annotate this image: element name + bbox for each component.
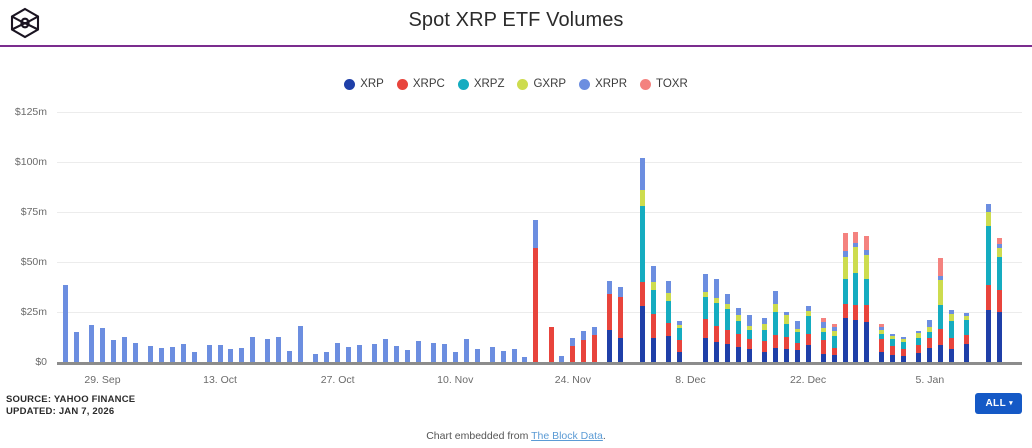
bar-segment-xrpz (949, 321, 954, 338)
the-block-data-link[interactable]: The Block Data (531, 430, 603, 442)
bar-segment-xrp (949, 349, 954, 362)
bar-segment-xrpc (964, 335, 969, 344)
bar-segment-xrpr (346, 347, 351, 362)
bar-segment-xrpr (74, 332, 79, 362)
bar-segment-xrpc (666, 323, 671, 336)
bar-segment-xrpr (250, 337, 255, 362)
range-selector-all-button[interactable]: ALL ▾ (975, 393, 1022, 414)
source-line: SOURCE: YAHOO FINANCE (6, 394, 135, 406)
bar-column[interactable] (964, 313, 969, 362)
legend-label: XRPC (413, 78, 445, 90)
x-axis: 29. Sep13. Oct27. Oct10. Nov24. Nov8. De… (57, 368, 1022, 392)
bar-segment-xrpr (394, 346, 399, 362)
bar-segment-xrpc (784, 337, 789, 349)
bar-column[interactable] (607, 281, 612, 362)
bar-segment-xrp (864, 322, 869, 362)
bar-segment-xrpz (864, 279, 869, 305)
bar-segment-xrp (938, 345, 943, 362)
bar-column[interactable] (549, 327, 554, 362)
bar-segment-xrpr (640, 158, 645, 190)
bar-segment-xrpc (651, 314, 656, 338)
y-axis-tick-label: $0 (35, 356, 47, 368)
bar-segment-xrpz (821, 332, 826, 340)
bar-column[interactable] (265, 339, 270, 362)
bar-segment-xrpz (832, 336, 837, 348)
bar-column[interactable] (170, 347, 175, 362)
bar-segment-xrp (640, 306, 645, 362)
bar-segment-xrpz (773, 312, 778, 335)
range-selector-label: ALL (985, 398, 1006, 409)
updated-line: UPDATED: JAN 7, 2026 (6, 406, 135, 418)
bar-segment-gxrp (666, 293, 671, 301)
bar-segment-xrpr (313, 354, 318, 362)
bar-column[interactable] (287, 351, 292, 362)
bar-segment-xrpr (265, 339, 270, 362)
bar-column[interactable] (228, 349, 233, 362)
legend-swatch-gxrp-icon (517, 79, 528, 90)
bar-segment-xrpc (736, 334, 741, 347)
bar-segment-xrpr (453, 352, 458, 362)
bar-column[interactable] (714, 279, 719, 362)
bar-column[interactable] (431, 343, 436, 362)
bar-segment-xrpz (725, 309, 730, 330)
bar-segment-xrpc (916, 345, 921, 353)
bar-segment-xrpr (276, 337, 281, 362)
bar-segment-xrpr (357, 345, 362, 362)
bar-segment-xrpz (843, 279, 848, 304)
bar-segment-xrpc (592, 335, 597, 362)
bar-segment-xrpc (773, 335, 778, 348)
bar-segment-xrpr (218, 345, 223, 362)
bar-segment-xrp (832, 355, 837, 362)
bar-segment-xrp (762, 352, 767, 362)
bar-column[interactable] (394, 346, 399, 362)
legend-label: XRPR (595, 78, 627, 90)
source-info: SOURCE: YAHOO FINANCE UPDATED: JAN 7, 20… (6, 394, 135, 418)
bar-segment-xrpr (475, 349, 480, 362)
bar-column[interactable] (949, 310, 954, 362)
bar-segment-xrpc (714, 326, 719, 342)
bar-segment-xrpc (949, 338, 954, 349)
chevron-down-icon: ▾ (1009, 400, 1013, 407)
bar-segment-xrp (607, 330, 612, 362)
bar-column[interactable] (533, 220, 538, 362)
legend-item-gxrp[interactable]: GXRP (517, 78, 566, 90)
bar-segment-xrpz (901, 342, 906, 349)
bar-column[interactable] (821, 318, 826, 362)
bar-segment-xrpr (111, 340, 116, 362)
bars-layer (57, 100, 1022, 392)
bar-segment-xrpc (533, 248, 538, 362)
bar-column[interactable] (677, 321, 682, 362)
bar-column[interactable] (879, 324, 884, 362)
legend-swatch-xrpc-icon (397, 79, 408, 90)
y-axis-tick-label: $25m (21, 306, 47, 318)
bar-segment-xrpr (986, 204, 991, 212)
y-axis-tick-label: $100m (15, 156, 47, 168)
bar-segment-gxrp (986, 212, 991, 226)
bar-segment-xrpr (148, 346, 153, 362)
bar-segment-xrp (997, 312, 1002, 362)
bar-segment-xrpr (592, 327, 597, 335)
bar-column[interactable] (784, 312, 789, 362)
bar-column[interactable] (313, 354, 318, 362)
legend-item-xrpc[interactable]: XRPC (397, 78, 445, 90)
bar-segment-gxrp (864, 255, 869, 279)
bar-segment-xrpc (806, 334, 811, 345)
legend-label: GXRP (533, 78, 566, 90)
bar-column[interactable] (832, 324, 837, 362)
bar-column[interactable] (747, 315, 752, 362)
bar-segment-xrp (666, 336, 671, 362)
bar-segment-xrpr (442, 344, 447, 362)
bar-column[interactable] (181, 344, 186, 362)
bar-column[interactable] (133, 343, 138, 362)
bar-segment-xrpr (725, 294, 730, 304)
bar-segment-xrpr (773, 291, 778, 304)
bar-segment-xrpc (795, 343, 800, 350)
bar-segment-xrpr (170, 347, 175, 362)
legend-swatch-xrp-icon (344, 79, 355, 90)
bar-column[interactable] (416, 341, 421, 362)
chart-footer: SOURCE: YAHOO FINANCE UPDATED: JAN 7, 20… (0, 392, 1032, 448)
x-axis-tick-label: 8. Dec (675, 374, 705, 386)
bar-column[interactable] (736, 308, 741, 362)
bar-segment-xrpz (714, 303, 719, 326)
bar-column[interactable] (795, 321, 800, 362)
bar-segment-xrpr (298, 326, 303, 362)
bar-segment-xrpz (916, 338, 921, 345)
bar-segment-xrp (927, 348, 932, 362)
bar-column[interactable] (239, 348, 244, 362)
bar-segment-xrpr (607, 281, 612, 294)
bar-segment-xrp (795, 350, 800, 362)
y-axis-tick-label: $75m (21, 206, 47, 218)
bar-segment-xrpr (533, 220, 538, 248)
bar-segment-xrpr (736, 308, 741, 315)
bar-column[interactable] (773, 291, 778, 362)
bar-column[interactable] (853, 232, 858, 362)
y-axis: $0$25m$50m$75m$100m$125m (0, 100, 55, 392)
bar-column[interactable] (618, 287, 623, 362)
bar-column[interactable] (89, 325, 94, 362)
bar-column[interactable] (490, 347, 495, 362)
bar-column[interactable] (357, 345, 362, 362)
embed-credit: Chart embedded from The Block Data. (0, 430, 1032, 442)
bar-segment-xrpr (228, 349, 233, 362)
bar-segment-gxrp (651, 282, 656, 290)
legend-item-xrpz[interactable]: XRPZ (458, 78, 505, 90)
x-axis-tick-label: 13. Oct (203, 374, 237, 386)
bar-segment-xrpr (927, 320, 932, 327)
legend-swatch-xrpz-icon (458, 79, 469, 90)
bar-segment-xrpz (640, 206, 645, 282)
bar-segment-xrpr (747, 315, 752, 326)
bar-column[interactable] (250, 337, 255, 362)
bar-segment-xrpz (806, 316, 811, 334)
bar-segment-xrpc (725, 330, 730, 344)
bar-segment-gxrp (997, 248, 1002, 257)
bar-segment-xrpr (714, 279, 719, 298)
x-axis-tick-label: 24. Nov (555, 374, 591, 386)
bar-segment-xrpz (964, 320, 969, 335)
bar-column[interactable] (890, 334, 895, 362)
bar-segment-xrpr (159, 348, 164, 362)
legend-item-xrpr[interactable]: XRPR (579, 78, 627, 90)
bar-segment-xrpc (879, 339, 884, 352)
legend-label: XRP (360, 78, 384, 90)
grid-area (57, 100, 1022, 392)
bar-column[interactable] (581, 331, 586, 362)
bar-segment-xrp (784, 349, 789, 362)
bar-column[interactable] (640, 158, 645, 362)
bar-column[interactable] (762, 318, 767, 362)
bar-segment-toxr (843, 233, 848, 251)
bar-segment-xrpr (239, 348, 244, 362)
x-axis-tick-label: 5. Jan (916, 374, 945, 386)
bar-column[interactable] (501, 351, 506, 362)
bar-segment-xrpr (383, 339, 388, 362)
x-axis-tick-label: 22. Dec (790, 374, 826, 386)
bar-segment-xrpr (581, 331, 586, 340)
chart-header: Spot XRP ETF Volumes (0, 0, 1032, 47)
bar-segment-xrpr (431, 343, 436, 362)
bar-segment-xrpr (335, 343, 340, 362)
legend-item-xrp[interactable]: XRP (344, 78, 384, 90)
bar-segment-xrpc (640, 282, 645, 306)
legend-label: XRPZ (474, 78, 505, 90)
x-axis-tick-label: 29. Sep (84, 374, 120, 386)
bar-column[interactable] (725, 294, 730, 362)
bar-segment-xrp (618, 338, 623, 362)
bar-segment-xrp (916, 353, 921, 362)
bar-segment-xrpr (372, 344, 377, 362)
bar-column[interactable] (666, 281, 671, 362)
bar-segment-xrpr (181, 344, 186, 362)
bar-segment-xrp (821, 354, 826, 362)
bar-segment-gxrp (938, 280, 943, 305)
bar-column[interactable] (651, 266, 656, 362)
bar-column[interactable] (843, 233, 848, 362)
bar-segment-xrp (879, 352, 884, 362)
bar-column[interactable] (74, 332, 79, 362)
bar-segment-xrpc (843, 304, 848, 318)
legend-item-toxr[interactable]: TOXR (640, 78, 688, 90)
bar-segment-xrpr (192, 352, 197, 362)
bar-segment-xrpr (490, 347, 495, 362)
embed-prefix: Chart embedded from (426, 430, 531, 442)
bar-segment-xrpr (464, 339, 469, 362)
bar-column[interactable] (324, 352, 329, 362)
bar-column[interactable] (111, 340, 116, 362)
bar-segment-xrp (714, 342, 719, 362)
bar-column[interactable] (405, 350, 410, 362)
bar-column[interactable] (218, 345, 223, 362)
bar-column[interactable] (512, 349, 517, 362)
bar-segment-xrpr (207, 345, 212, 362)
bar-segment-xrpz (938, 305, 943, 329)
bar-segment-xrpr (618, 287, 623, 297)
legend-swatch-toxr-icon (640, 79, 651, 90)
bar-segment-xrpc (549, 327, 554, 362)
bar-segment-xrpc (890, 346, 895, 355)
bar-segment-xrpc (607, 294, 612, 330)
bar-column[interactable] (122, 337, 127, 362)
bar-segment-xrpr (324, 352, 329, 362)
bar-segment-xrpr (512, 349, 517, 362)
bar-segment-xrpz (795, 332, 800, 343)
bar-segment-gxrp (773, 304, 778, 312)
bar-column[interactable] (159, 348, 164, 362)
bar-segment-xrp (725, 344, 730, 362)
x-axis-tick-label: 27. Oct (321, 374, 355, 386)
bar-segment-xrpr (122, 337, 127, 362)
bar-column[interactable] (63, 285, 68, 362)
bar-segment-xrpr (287, 351, 292, 362)
bar-column[interactable] (335, 343, 340, 362)
bar-segment-xrp (747, 349, 752, 362)
bar-segment-xrpr (89, 325, 94, 362)
bar-column[interactable] (346, 347, 351, 362)
bar-segment-xrp (651, 338, 656, 362)
bar-segment-xrpc (927, 338, 932, 348)
bar-segment-gxrp (784, 315, 789, 324)
bar-column[interactable] (570, 338, 575, 362)
bar-column[interactable] (901, 337, 906, 362)
page-title: Spot XRP ETF Volumes (0, 9, 1032, 32)
bar-column[interactable] (298, 326, 303, 362)
embed-suffix: . (603, 430, 606, 442)
chart-page: Spot XRP ETF Volumes XRPXRPCXRPZGXRPXRPR… (0, 0, 1032, 448)
bar-segment-xrpz (762, 330, 767, 341)
bar-segment-toxr (938, 258, 943, 276)
bar-segment-toxr (864, 236, 869, 250)
bar-segment-xrpc (901, 349, 906, 356)
bar-segment-xrpz (677, 328, 682, 340)
bar-column[interactable] (100, 328, 105, 362)
bar-segment-xrpz (736, 321, 741, 334)
bar-segment-gxrp (843, 257, 848, 279)
bar-column[interactable] (475, 349, 480, 362)
bar-segment-toxr (853, 232, 858, 243)
bar-segment-xrpr (405, 350, 410, 362)
bar-segment-xrpc (570, 346, 575, 362)
bar-segment-xrpc (997, 290, 1002, 312)
bar-column[interactable] (372, 344, 377, 362)
bar-column[interactable] (703, 274, 708, 362)
bar-column[interactable] (938, 258, 943, 362)
bar-column[interactable] (916, 331, 921, 362)
bar-segment-xrpc (618, 297, 623, 338)
bar-column[interactable] (453, 352, 458, 362)
bar-column[interactable] (464, 339, 469, 362)
bar-segment-xrpr (703, 274, 708, 292)
bar-segment-xrpz (997, 257, 1002, 290)
bar-segment-xrp (853, 320, 858, 362)
bar-segment-xrpz (890, 339, 895, 346)
bar-segment-xrpc (677, 340, 682, 352)
bar-segment-xrpc (762, 341, 767, 352)
bar-segment-xrpz (666, 301, 671, 323)
bar-segment-xrpc (938, 329, 943, 345)
bar-column[interactable] (592, 327, 597, 362)
bar-segment-xrpz (784, 324, 789, 337)
bar-segment-xrpr (133, 343, 138, 362)
bar-column[interactable] (442, 344, 447, 362)
bar-segment-xrp (677, 352, 682, 362)
bar-segment-xrpz (853, 273, 858, 305)
bar-segment-xrpc (821, 340, 826, 354)
bar-segment-xrpc (832, 348, 837, 355)
bar-segment-xrpr (666, 281, 671, 293)
bar-column[interactable] (276, 337, 281, 362)
bar-segment-xrpr (651, 266, 656, 282)
bar-column[interactable] (207, 345, 212, 362)
x-axis-baseline (57, 362, 1022, 365)
bar-segment-xrpz (986, 226, 991, 285)
bar-segment-gxrp (949, 314, 954, 321)
bar-segment-xrp (986, 310, 991, 362)
bar-segment-xrp (703, 338, 708, 362)
bar-column[interactable] (192, 352, 197, 362)
x-axis-tick-label: 10. Nov (437, 374, 473, 386)
bar-segment-xrpz (747, 330, 752, 339)
legend-swatch-xrpr-icon (579, 79, 590, 90)
chart-plot-area: $0$25m$50m$75m$100m$125m 29. Sep13. Oct2… (0, 100, 1032, 392)
bar-segment-xrpr (63, 285, 68, 362)
bar-segment-xrpr (100, 328, 105, 362)
y-axis-tick-label: $125m (15, 106, 47, 118)
bar-segment-xrp (890, 355, 895, 362)
bar-column[interactable] (864, 236, 869, 362)
bar-segment-xrpc (581, 340, 586, 362)
bar-segment-xrp (806, 345, 811, 362)
bar-column[interactable] (383, 339, 388, 362)
bar-segment-gxrp (640, 190, 645, 206)
chart-legend: XRPXRPCXRPZGXRPXRPRTOXR (0, 75, 1032, 93)
bar-segment-xrpz (703, 297, 708, 319)
bar-segment-xrp (773, 348, 778, 362)
bar-column[interactable] (806, 306, 811, 362)
bar-segment-xrpz (651, 290, 656, 314)
bar-column[interactable] (997, 238, 1002, 362)
bar-segment-xrpr (795, 321, 800, 329)
bar-segment-xrpc (703, 319, 708, 338)
bar-segment-xrpr (416, 341, 421, 362)
bar-column[interactable] (148, 346, 153, 362)
bar-segment-xrpr (570, 338, 575, 346)
y-axis-tick-label: $50m (21, 256, 47, 268)
bar-segment-xrpc (864, 305, 869, 322)
bar-segment-gxrp (853, 247, 858, 273)
bar-segment-xrpc (986, 285, 991, 310)
bar-segment-xrpc (853, 305, 858, 320)
legend-label: TOXR (656, 78, 688, 90)
bar-segment-xrpr (501, 351, 506, 362)
bar-segment-xrp (843, 318, 848, 362)
bar-segment-xrpc (747, 339, 752, 349)
bar-segment-xrp (736, 347, 741, 362)
bar-column[interactable] (927, 320, 932, 362)
bar-column[interactable] (986, 204, 991, 362)
bar-segment-xrp (964, 344, 969, 362)
